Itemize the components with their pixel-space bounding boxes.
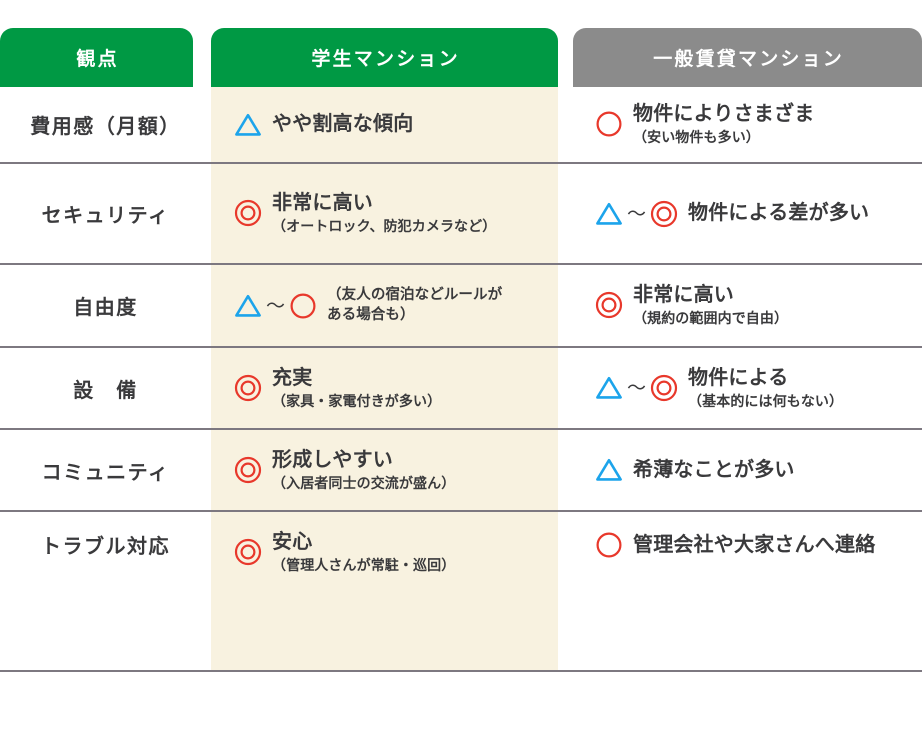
column-header-aspect: 観点 bbox=[0, 28, 193, 87]
double-circle-icon bbox=[233, 373, 263, 403]
general-rental-main-text: 物件による bbox=[688, 366, 843, 391]
student-mansion-rating: 〜（友人の宿泊などルールが ある場合も） bbox=[233, 286, 502, 325]
general-rental-main-text: 管理会社や大家さんへ連絡 bbox=[633, 533, 875, 558]
student-mansion-rating: やや割高な傾向 bbox=[233, 111, 413, 139]
student-mansion-main-text: やや割高な傾向 bbox=[272, 112, 413, 137]
student-mansion-symbols: 〜 bbox=[233, 291, 318, 321]
aspect-cell: 費用感（月額） bbox=[0, 87, 211, 162]
student-mansion-sub-text: （入居者同士の交流が盛ん） bbox=[272, 474, 455, 493]
student-mansion-rating: 充実（家具・家電付きが多い） bbox=[233, 366, 441, 411]
student-mansion-sub-text: （友人の宿泊などルールが ある場合も） bbox=[327, 286, 502, 325]
double-circle-icon bbox=[233, 198, 263, 228]
range-tilde: 〜 bbox=[626, 379, 647, 398]
general-rental-texts: 非常に高い（規約の範囲内で自由） bbox=[633, 283, 788, 328]
aspect-cell: コミュニティ bbox=[0, 430, 211, 510]
table-header-row: 観点 学生マンション 一般賃貸マンション bbox=[0, 28, 922, 87]
table-row: 費用感（月額）やや割高な傾向物件によりさまざま（安い物件も多い） bbox=[0, 87, 922, 164]
double-circle-icon bbox=[649, 373, 679, 403]
student-mansion-sub-text: （オートロック、防犯カメラなど） bbox=[272, 217, 496, 236]
triangle-icon bbox=[233, 292, 263, 320]
student-mansion-symbols bbox=[233, 111, 263, 139]
general-rental-cell: 希薄なことが多い bbox=[558, 430, 922, 510]
double-circle-icon bbox=[649, 199, 679, 229]
triangle-icon bbox=[594, 374, 624, 402]
student-mansion-texts: 充実（家具・家電付きが多い） bbox=[272, 366, 441, 411]
aspect-cell: セキュリティ bbox=[0, 164, 211, 263]
student-mansion-sub-text: （家具・家電付きが多い） bbox=[272, 392, 441, 411]
general-rental-cell: 非常に高い（規約の範囲内で自由） bbox=[558, 265, 922, 346]
general-rental-main-text: 物件による差が多い bbox=[688, 201, 869, 226]
student-mansion-rating: 安心（管理人さんが常駐・巡回） bbox=[233, 530, 455, 575]
student-mansion-cell: やや割高な傾向 bbox=[211, 87, 558, 162]
general-rental-cell: 〜物件による差が多い bbox=[558, 164, 922, 263]
column-header-general-rental: 一般賃貸マンション bbox=[573, 28, 922, 87]
general-rental-rating: 物件によりさまざま（安い物件も多い） bbox=[594, 102, 814, 147]
aspect-label: コミュニティ bbox=[42, 456, 170, 485]
general-rental-texts: 希薄なことが多い bbox=[633, 458, 795, 483]
student-mansion-symbols bbox=[233, 537, 263, 567]
aspect-label: トラブル対応 bbox=[41, 530, 170, 559]
general-rental-symbols bbox=[594, 290, 624, 320]
table-row: 自由度〜（友人の宿泊などルールが ある場合も）非常に高い（規約の範囲内で自由） bbox=[0, 265, 922, 348]
general-rental-symbols bbox=[594, 109, 624, 139]
general-rental-texts: 物件によりさまざま（安い物件も多い） bbox=[633, 102, 814, 147]
general-rental-symbols bbox=[594, 456, 624, 484]
student-mansion-sub-text: （管理人さんが常駐・巡回） bbox=[272, 556, 455, 575]
general-rental-rating: 〜物件による差が多い bbox=[594, 199, 869, 229]
aspect-label: 費用感（月額） bbox=[30, 110, 181, 139]
triangle-icon bbox=[594, 200, 624, 228]
student-mansion-texts: 形成しやすい（入居者同士の交流が盛ん） bbox=[272, 448, 455, 493]
aspect-label: 設 備 bbox=[73, 374, 138, 403]
column-header-general-rental-label: 一般賃貸マンション bbox=[651, 44, 844, 71]
general-rental-main-text: 希薄なことが多い bbox=[633, 458, 795, 483]
general-rental-main-text: 物件によりさまざま bbox=[633, 102, 814, 127]
triangle-icon bbox=[233, 111, 263, 139]
student-mansion-main-text: 非常に高い bbox=[272, 191, 496, 216]
table-body: 費用感（月額）やや割高な傾向物件によりさまざま（安い物件も多い）セキュリティ非常… bbox=[0, 87, 922, 672]
table-row: 設 備充実（家具・家電付きが多い）〜物件による（基本的には何もない） bbox=[0, 348, 922, 430]
general-rental-cell: 〜物件による（基本的には何もない） bbox=[558, 348, 922, 428]
column-header-aspect-label: 観点 bbox=[74, 44, 119, 71]
general-rental-symbols: 〜 bbox=[594, 199, 679, 229]
column-header-student-mansion-label: 学生マンション bbox=[309, 44, 460, 71]
student-mansion-main-text: 充実 bbox=[272, 366, 441, 391]
student-mansion-symbols bbox=[233, 373, 263, 403]
student-mansion-cell: 安心（管理人さんが常駐・巡回） bbox=[211, 512, 558, 670]
aspect-cell: 設 備 bbox=[0, 348, 211, 428]
general-rental-texts: 物件による（基本的には何もない） bbox=[688, 366, 843, 411]
aspect-cell: 自由度 bbox=[0, 265, 211, 346]
range-tilde: 〜 bbox=[265, 297, 286, 316]
student-mansion-texts: 安心（管理人さんが常駐・巡回） bbox=[272, 530, 455, 575]
student-mansion-cell: 充実（家具・家電付きが多い） bbox=[211, 348, 558, 428]
general-rental-sub-text: （規約の範囲内で自由） bbox=[633, 309, 788, 328]
column-header-student-mansion: 学生マンション bbox=[211, 28, 558, 87]
student-mansion-texts: （友人の宿泊などルールが ある場合も） bbox=[327, 286, 502, 325]
general-rental-symbols: 〜 bbox=[594, 373, 679, 403]
aspect-label: 自由度 bbox=[73, 291, 138, 320]
general-rental-cell: 管理会社や大家さんへ連絡 bbox=[558, 512, 922, 670]
double-circle-icon bbox=[233, 537, 263, 567]
student-mansion-main-text: 形成しやすい bbox=[272, 448, 455, 473]
general-rental-rating: 非常に高い（規約の範囲内で自由） bbox=[594, 283, 788, 328]
range-tilde: 〜 bbox=[626, 205, 647, 224]
student-mansion-cell: 形成しやすい（入居者同士の交流が盛ん） bbox=[211, 430, 558, 510]
general-rental-rating: 〜物件による（基本的には何もない） bbox=[594, 366, 843, 411]
student-mansion-rating: 非常に高い（オートロック、防犯カメラなど） bbox=[233, 191, 496, 236]
table-row: コミュニティ形成しやすい（入居者同士の交流が盛ん）希薄なことが多い bbox=[0, 430, 922, 512]
general-rental-sub-text: （基本的には何もない） bbox=[688, 392, 843, 411]
general-rental-texts: 物件による差が多い bbox=[688, 201, 869, 226]
aspect-cell: トラブル対応 bbox=[0, 512, 211, 670]
general-rental-cell: 物件によりさまざま（安い物件も多い） bbox=[558, 87, 922, 162]
table-row: セキュリティ非常に高い（オートロック、防犯カメラなど）〜物件による差が多い bbox=[0, 164, 922, 265]
student-mansion-main-text: 安心 bbox=[272, 530, 455, 555]
circle-icon bbox=[594, 109, 624, 139]
general-rental-main-text: 非常に高い bbox=[633, 283, 788, 308]
general-rental-texts: 管理会社や大家さんへ連絡 bbox=[633, 533, 875, 558]
student-mansion-cell: 〜（友人の宿泊などルールが ある場合も） bbox=[211, 265, 558, 346]
double-circle-icon bbox=[594, 290, 624, 320]
student-mansion-symbols bbox=[233, 455, 263, 485]
general-rental-rating: 希薄なことが多い bbox=[594, 456, 795, 484]
circle-icon bbox=[594, 530, 624, 560]
student-mansion-symbols bbox=[233, 198, 263, 228]
student-mansion-texts: やや割高な傾向 bbox=[272, 112, 413, 137]
double-circle-icon bbox=[233, 455, 263, 485]
student-mansion-texts: 非常に高い（オートロック、防犯カメラなど） bbox=[272, 191, 496, 236]
general-rental-sub-text: （安い物件も多い） bbox=[633, 128, 814, 147]
student-mansion-rating: 形成しやすい（入居者同士の交流が盛ん） bbox=[233, 448, 455, 493]
triangle-icon bbox=[594, 456, 624, 484]
circle-icon bbox=[288, 291, 318, 321]
aspect-label: セキュリティ bbox=[42, 199, 170, 228]
student-mansion-cell: 非常に高い（オートロック、防犯カメラなど） bbox=[211, 164, 558, 263]
general-rental-symbols bbox=[594, 530, 624, 560]
general-rental-rating: 管理会社や大家さんへ連絡 bbox=[594, 530, 875, 560]
comparison-table: 観点 学生マンション 一般賃貸マンション 費用感（月額）やや割高な傾向物件により… bbox=[0, 0, 922, 744]
table-row: トラブル対応安心（管理人さんが常駐・巡回）管理会社や大家さんへ連絡 bbox=[0, 512, 922, 672]
